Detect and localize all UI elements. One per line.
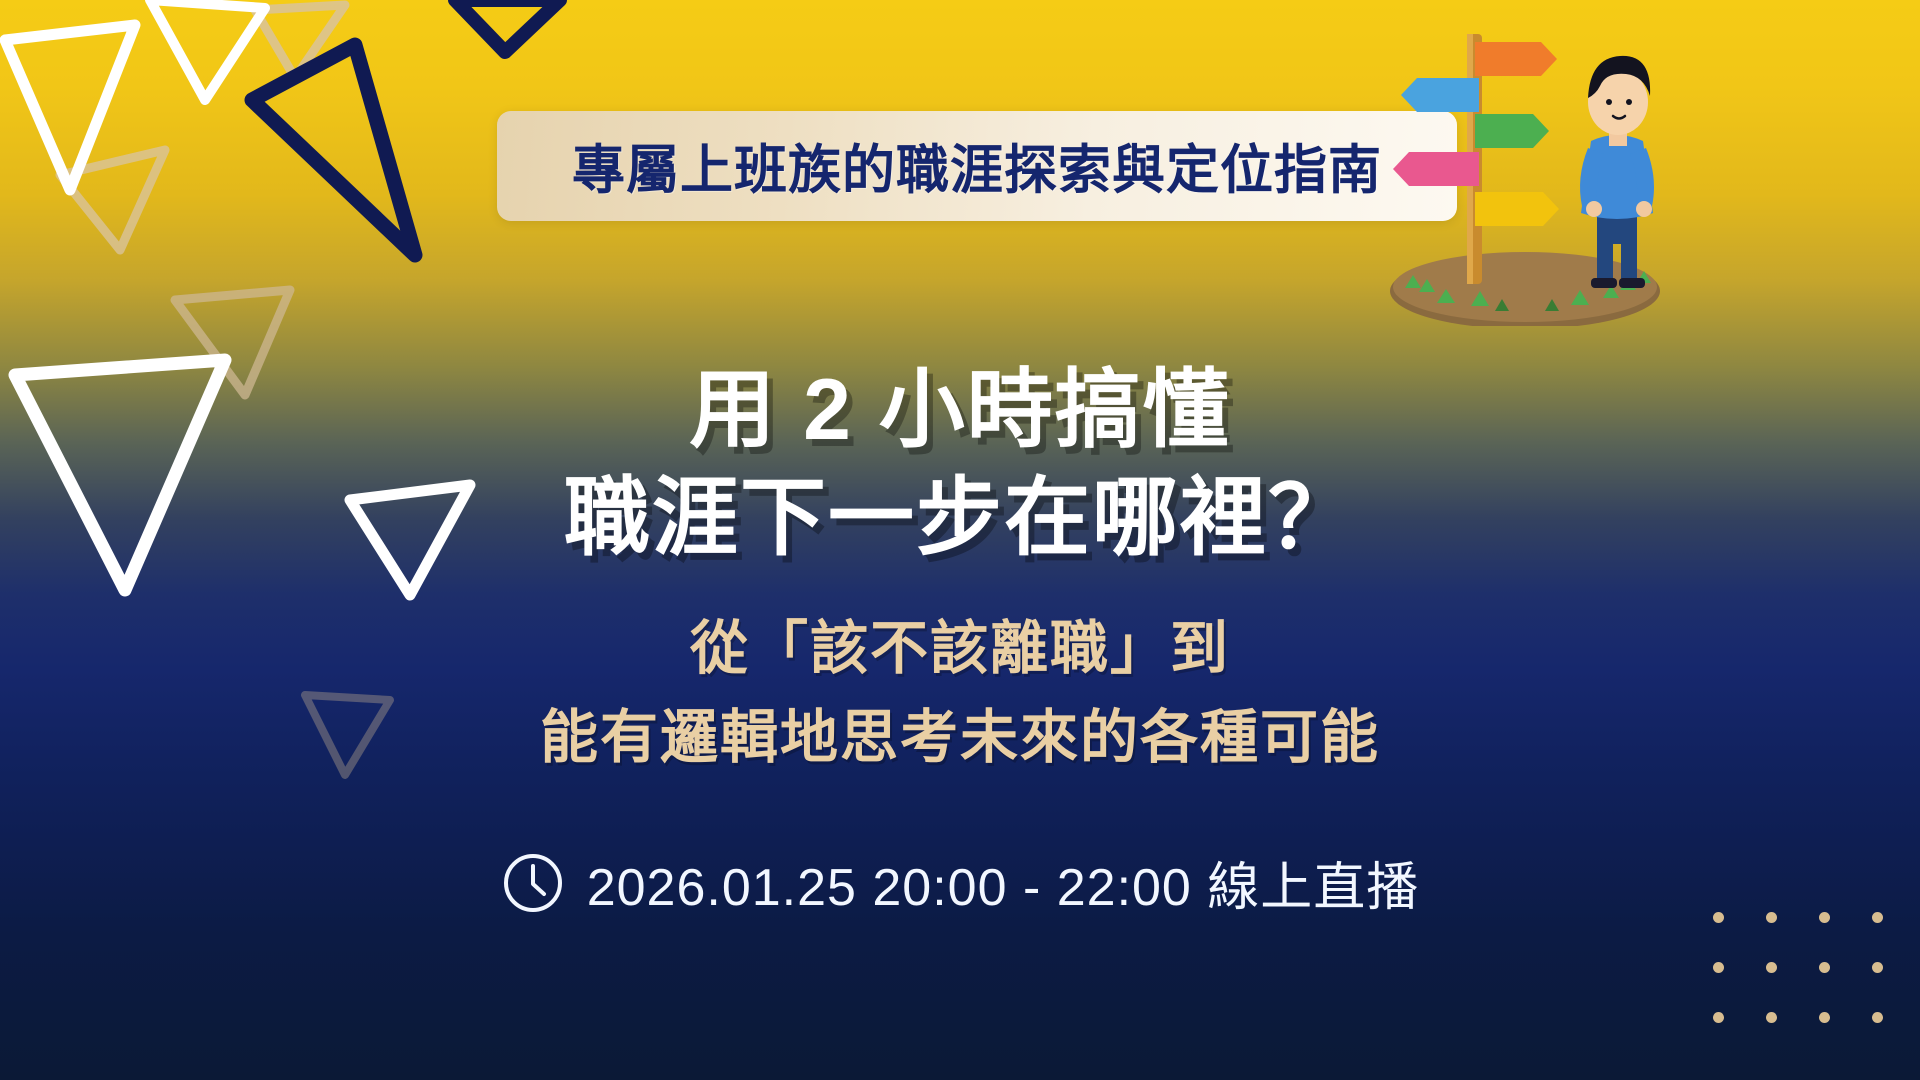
grid-dot (1766, 912, 1777, 923)
grid-dot (1819, 962, 1830, 973)
subtitle-line-2: 能有邏輯地思考未來的各種可能 (0, 709, 1920, 767)
banner-title: 專屬上班族的職涯探索與定位指南 (572, 128, 1382, 204)
clock-icon (501, 851, 565, 915)
signpost-with-person-illustration (1375, 6, 1675, 326)
grid-dot (1713, 912, 1724, 923)
grid-dot (1872, 912, 1883, 923)
grid-dot (1766, 962, 1777, 973)
schedule-text: 2026.01.25 20:00 - 22:00 線上直播 (587, 845, 1420, 920)
grid-dot (1766, 1012, 1777, 1023)
banner-ribbon: 專屬上班族的職涯探索與定位指南 (497, 111, 1457, 221)
grid-dot (1713, 962, 1724, 973)
schedule-row: 2026.01.25 20:00 - 22:00 線上直播 (0, 845, 1920, 920)
promo-poster: 專屬上班族的職涯探索與定位指南 (0, 0, 1920, 1080)
grid-dot (1819, 1012, 1830, 1023)
grid-dot (1819, 912, 1830, 923)
headline-line-2: 職涯下一步在哪裡？ (0, 475, 1920, 561)
grid-dot (1872, 962, 1883, 973)
subtitle-line-1: 從「該不該離職」到 (0, 620, 1920, 678)
grid-dot (1713, 1012, 1724, 1023)
grid-dot (1872, 1012, 1883, 1023)
headline-line-1: 用 2 小時搞懂 (0, 367, 1920, 453)
dot-grid-decoration (1692, 892, 1904, 1042)
